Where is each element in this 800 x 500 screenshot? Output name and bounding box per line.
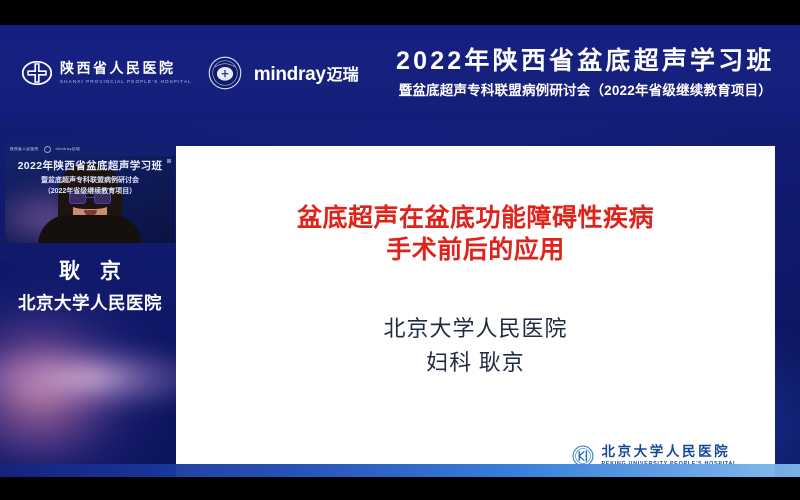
speaker-organization: 北京大学人民医院 bbox=[5, 290, 175, 315]
speaker-video-feed[interactable]: 陕西省人民医院 mindray迈瑞 2022年陕西省盆底超声学习班 暨盆底超声专… bbox=[5, 143, 175, 243]
stage-accent-strip bbox=[0, 464, 800, 477]
video-corner-marker-icon bbox=[167, 159, 171, 163]
shanxi-hospital-logo: 陕西省人民医院 SHANXI PROVINCIAL PEOPLE'S HOSPI… bbox=[22, 58, 192, 88]
speaker-name: 耿 京 bbox=[5, 255, 175, 285]
speaker-video-mini-banner: 陕西省人民医院 mindray迈瑞 bbox=[5, 143, 175, 156]
presentation-slide[interactable]: 盆底超声在盆底功能障碍性疾病 手术前后的应用 北京大学人民医院 妇科 耿京 北京… bbox=[176, 146, 775, 477]
event-title-sub: 暨盆底超声专科联盟病例研讨会（2022年省级继续教育项目） bbox=[383, 79, 788, 99]
shanxi-hospital-name-cn: 陕西省人民医院 bbox=[60, 60, 176, 76]
shanxi-hospital-name-en: SHANXI PROVINCIAL PEOPLE'S HOSPITAL bbox=[60, 80, 192, 85]
speaker-video-mini-title-group: 2022年陕西省盆底超声学习班 暨盆底超声专科联盟病例研讨会 （2022年省级继… bbox=[5, 158, 175, 196]
screen-root: 陕西省人民医院 SHANXI PROVINCIAL PEOPLE'S HOSPI… bbox=[0, 0, 800, 500]
banner-title-group: 2022年陕西省盆底超声学习班 暨盆底超声专科联盟病例研讨会（2022年省级继续… bbox=[383, 48, 800, 99]
presenter-body bbox=[38, 215, 142, 243]
mindray-wordmark-cn: 迈瑞 bbox=[327, 61, 359, 85]
letterbox-bar-bottom bbox=[0, 477, 800, 500]
circular-seal-icon bbox=[208, 56, 242, 90]
mini-seal-icon bbox=[44, 146, 51, 153]
presenter-glasses-bridge bbox=[86, 197, 94, 198]
mini-shanxi-logo-label: 陕西省人民医院 bbox=[10, 147, 39, 152]
mini-title-line2: 暨盆底超声专科联盟病例研讨会 bbox=[5, 175, 175, 185]
speaker-panel: 陕西省人民医院 mindray迈瑞 2022年陕西省盆底超声学习班 暨盆底超声专… bbox=[5, 143, 175, 315]
mindray-logo: mindray 迈瑞 bbox=[254, 61, 359, 86]
mini-title-line3: （2022年省级继续教育项目） bbox=[5, 186, 175, 196]
mindray-wordmark-en: mindray bbox=[254, 64, 326, 86]
event-banner: 陕西省人民医院 SHANXI PROVINCIAL PEOPLE'S HOSPI… bbox=[0, 25, 800, 121]
slide-body-line1: 北京大学人民医院 bbox=[176, 312, 775, 346]
letterbox-bar-top bbox=[0, 0, 800, 25]
peking-hospital-name-cn: 北京大学人民医院 bbox=[601, 445, 737, 459]
mini-title-line1: 2022年陕西省盆底超声学习班 bbox=[5, 158, 175, 173]
mini-mindray-label: mindray迈瑞 bbox=[56, 147, 80, 152]
slide-body-line2: 妇科 耿京 bbox=[176, 346, 775, 380]
event-title-main: 2022年陕西省盆底超声学习班 bbox=[383, 48, 788, 75]
slide-title-line2: 手术前后的应用 bbox=[176, 234, 775, 266]
video-canvas: 陕西省人民医院 SHANXI PROVINCIAL PEOPLE'S HOSPI… bbox=[0, 25, 800, 477]
banner-logo-group: 陕西省人民医院 SHANXI PROVINCIAL PEOPLE'S HOSPI… bbox=[0, 56, 359, 90]
slide-title-line1: 盆底超声在盆底功能障碍性疾病 bbox=[176, 202, 775, 234]
cross-shield-icon bbox=[22, 58, 52, 88]
slide-body: 北京大学人民医院 妇科 耿京 bbox=[176, 312, 775, 380]
shanxi-hospital-logo-text: 陕西省人民医院 SHANXI PROVINCIAL PEOPLE'S HOSPI… bbox=[60, 61, 192, 85]
slide-title: 盆底超声在盆底功能障碍性疾病 手术前后的应用 bbox=[176, 202, 775, 266]
